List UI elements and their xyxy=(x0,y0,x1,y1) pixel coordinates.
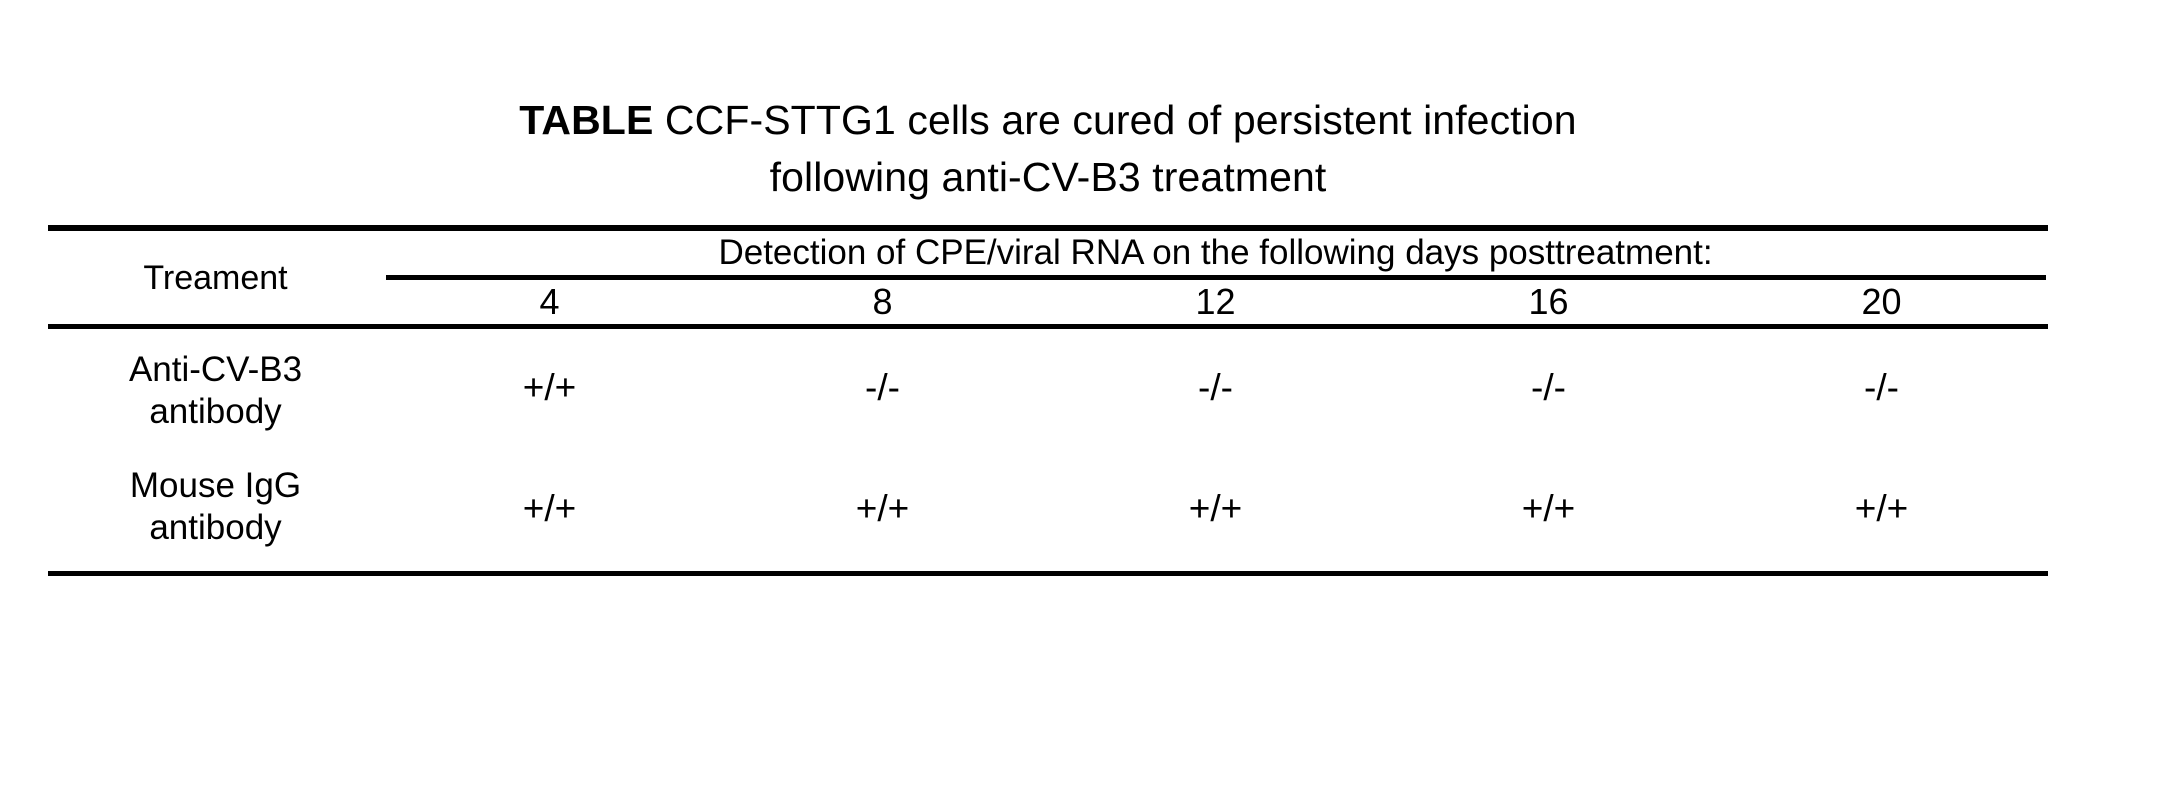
row-header-line-2: antibody xyxy=(149,508,281,547)
data-table: Treament Detection of CPE/viral RNA on t… xyxy=(48,225,2048,576)
cell-anti-cv-b3-day-12: -/- xyxy=(1049,327,1382,448)
row-header-line-1: Mouse IgG xyxy=(130,466,301,505)
column-header-day-8: 8 xyxy=(716,280,1049,327)
table-container: Treament Detection of CPE/viral RNA on t… xyxy=(48,225,2048,576)
table-row: Mouse IgG antibody +/+ +/+ +/+ +/+ +/+ xyxy=(48,447,2048,574)
cell-mouse-igg-day-8: +/+ xyxy=(716,447,1049,574)
caption-space xyxy=(653,97,665,143)
table-figure-page: TABLE CCF-STTG1 cells are cured of persi… xyxy=(0,0,2162,805)
cell-anti-cv-b3-day-4: +/+ xyxy=(383,327,716,448)
cell-mouse-igg-day-16: +/+ xyxy=(1382,447,1715,574)
column-header-day-12: 12 xyxy=(1049,280,1382,327)
column-header-day-16: 16 xyxy=(1382,280,1715,327)
cell-anti-cv-b3-day-20: -/- xyxy=(1715,327,2048,448)
cell-mouse-igg-day-4: +/+ xyxy=(383,447,716,574)
table-row: Anti-CV-B3 antibody +/+ -/- -/- -/- -/- xyxy=(48,327,2048,448)
row-header-mouse-igg-antibody: Mouse IgG antibody xyxy=(48,447,383,574)
cell-mouse-igg-day-12: +/+ xyxy=(1049,447,1382,574)
caption-line-2: following anti-CV-B3 treatment xyxy=(770,154,1327,200)
column-header-treatment: Treament xyxy=(48,228,383,327)
table-body: Anti-CV-B3 antibody +/+ -/- -/- -/- -/- … xyxy=(48,327,2048,574)
cell-mouse-igg-day-20: +/+ xyxy=(1715,447,2048,574)
cell-anti-cv-b3-day-16: -/- xyxy=(1382,327,1715,448)
column-group-header-detection: Detection of CPE/viral RNA on the follow… xyxy=(383,228,2048,275)
table-caption: TABLE CCF-STTG1 cells are cured of persi… xyxy=(48,92,2048,206)
cell-anti-cv-b3-day-8: -/- xyxy=(716,327,1049,448)
row-header-line-2: antibody xyxy=(149,392,281,431)
table-header-row-span: Treament Detection of CPE/viral RNA on t… xyxy=(48,228,2048,275)
caption-label: TABLE xyxy=(519,97,653,143)
row-header-anti-cv-b3-antibody: Anti-CV-B3 antibody xyxy=(48,327,383,448)
row-header-line-1: Anti-CV-B3 xyxy=(129,350,302,389)
column-header-day-4: 4 xyxy=(383,280,716,327)
caption-line-1: CCF-STTG1 cells are cured of persistent … xyxy=(665,97,1577,143)
table-head: Treament Detection of CPE/viral RNA on t… xyxy=(48,228,2048,327)
column-header-day-20: 20 xyxy=(1715,280,2048,327)
